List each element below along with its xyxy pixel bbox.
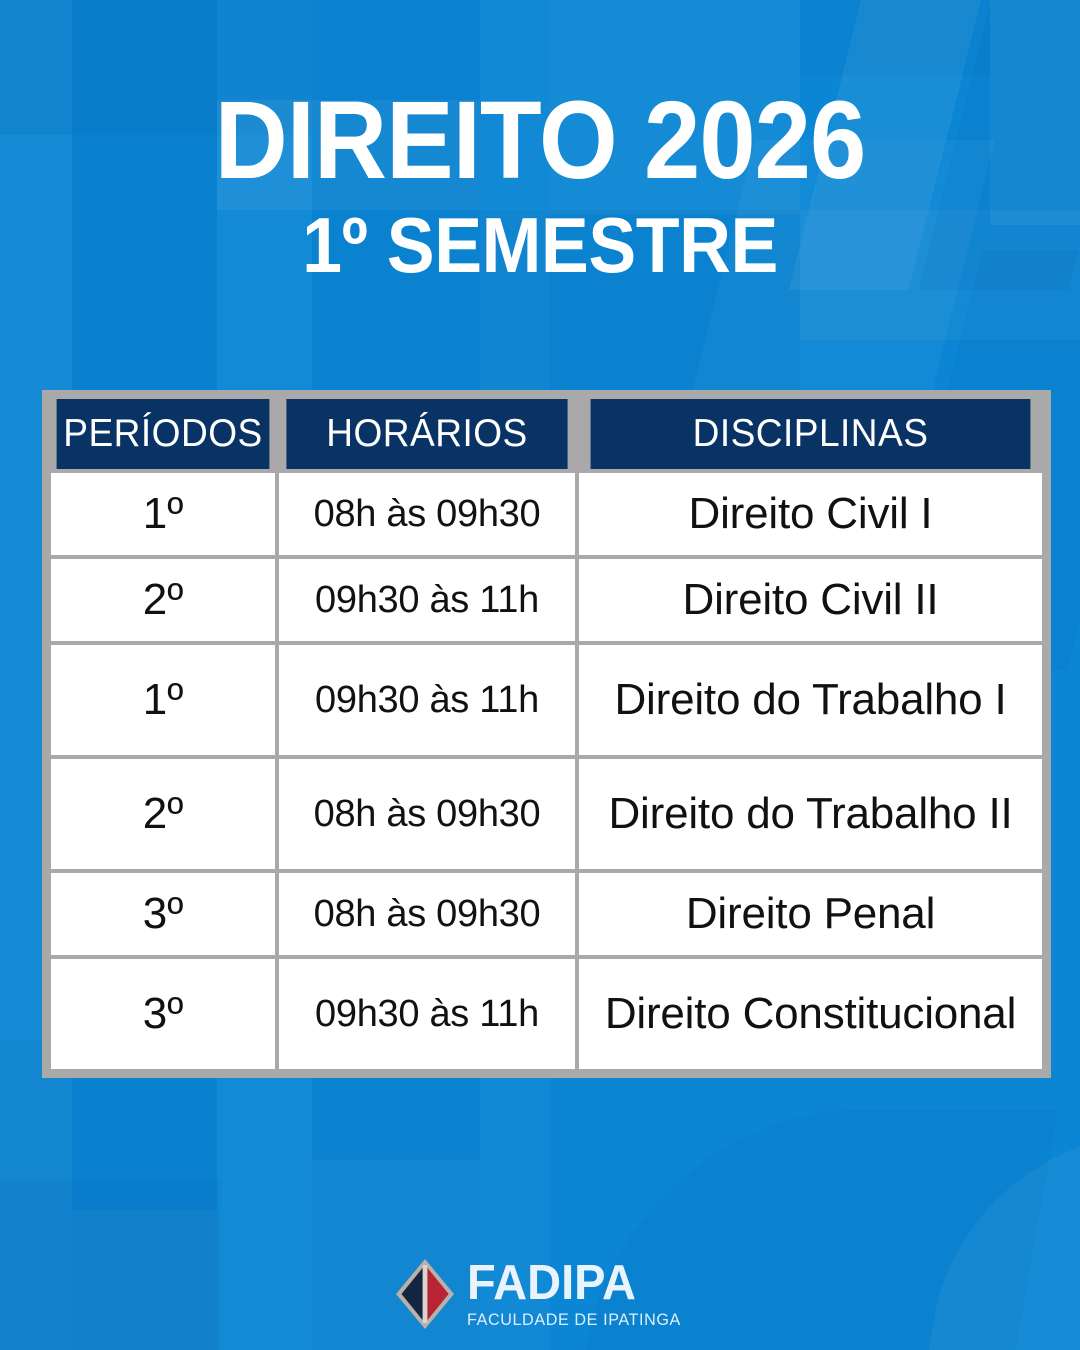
schedule-table-container: PERÍODOS HORÁRIOS DISCIPLINAS 1º 08h às … (42, 390, 1051, 1078)
table-header-row: PERÍODOS HORÁRIOS DISCIPLINAS (51, 399, 1042, 469)
schedule-table: PERÍODOS HORÁRIOS DISCIPLINAS 1º 08h às … (47, 395, 1046, 1073)
page-title: DIREITO 2026 1º SEMESTRE (0, 86, 1080, 284)
cell-periodo: 2º (51, 759, 275, 869)
fadipa-diamond-icon (395, 1258, 455, 1330)
table-row: 3º 08h às 09h30 Direito Penal (51, 873, 1042, 955)
cell-horario: 09h30 às 11h (279, 645, 575, 755)
table-row: 1º 08h às 09h30 Direito Civil I (51, 473, 1042, 555)
logo-tagline: FACULDADE DE IPATINGA (467, 1312, 681, 1329)
column-header-horarios: HORÁRIOS (286, 399, 567, 469)
schedule-table-body: 1º 08h às 09h30 Direito Civil I 2º 09h30… (51, 473, 1042, 1069)
cell-periodo: 3º (51, 959, 275, 1069)
table-row: 1º 09h30 às 11h Direito do Trabalho I (51, 645, 1042, 755)
cell-horario: 08h às 09h30 (279, 759, 575, 869)
table-row: 3º 09h30 às 11h Direito Constitucional (51, 959, 1042, 1069)
cell-periodo: 3º (51, 873, 275, 955)
cell-disciplina: Direito do Trabalho II (579, 759, 1042, 869)
column-header-disciplinas: DISCIPLINAS (591, 399, 1031, 469)
table-row: 2º 09h30 às 11h Direito Civil II (51, 559, 1042, 641)
cell-periodo: 1º (51, 645, 275, 755)
cell-disciplina: Direito Constitucional (579, 959, 1042, 1069)
fadipa-logo: FADIPA FACULDADE DE IPATINGA (0, 1258, 1080, 1330)
cell-disciplina: Direito Civil II (579, 559, 1042, 641)
fadipa-logo-text: FADIPA FACULDADE DE IPATINGA (467, 1259, 685, 1329)
schedule-table-head: PERÍODOS HORÁRIOS DISCIPLINAS (51, 399, 1042, 469)
table-row: 2º 08h às 09h30 Direito do Trabalho II (51, 759, 1042, 869)
cell-periodo: 2º (51, 559, 275, 641)
title-subtitle: 1º SEMESTRE (43, 206, 1037, 284)
cell-horario: 09h30 às 11h (279, 959, 575, 1069)
poster-canvas: DIREITO 2026 1º SEMESTRE PERÍODOS HORÁRI… (0, 0, 1080, 1350)
cell-disciplina: Direito Civil I (579, 473, 1042, 555)
logo-wordmark: FADIPA (467, 1259, 636, 1308)
column-header-periodos: PERÍODOS (57, 399, 270, 469)
title-main: DIREITO 2026 (43, 86, 1037, 196)
cell-horario: 09h30 às 11h (279, 559, 575, 641)
cell-horario: 08h às 09h30 (279, 473, 575, 555)
cell-horario: 08h às 09h30 (279, 873, 575, 955)
cell-disciplina: Direito Penal (579, 873, 1042, 955)
cell-periodo: 1º (51, 473, 275, 555)
cell-disciplina: Direito do Trabalho I (579, 645, 1042, 755)
